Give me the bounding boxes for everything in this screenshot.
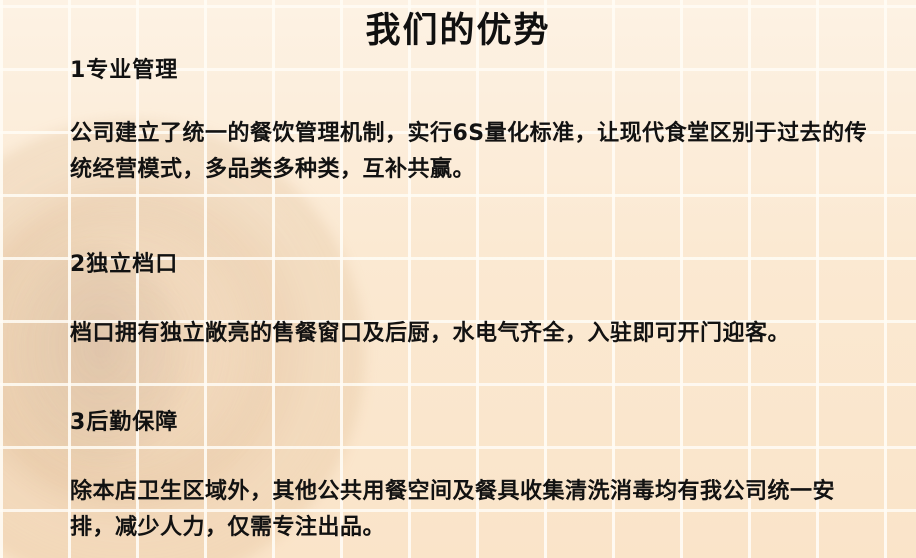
slide-content: 我们的优势 1专业管理 公司建立了统一的餐饮管理机制，实行6S量化标准，让现代食… bbox=[0, 0, 916, 558]
page-title: 我们的优势 bbox=[0, 12, 916, 51]
section-2-heading: 2独立档口 bbox=[70, 252, 880, 278]
section-1-body: 公司建立了统一的餐饮管理机制，实行6S量化标准，让现代食堂区别于过去的传统经营模… bbox=[70, 116, 870, 188]
advantage-section-1: 1专业管理 公司建立了统一的餐饮管理机制，实行6S量化标准，让现代食堂区别于过去… bbox=[70, 58, 880, 188]
presentation-slide: 我们的优势 1专业管理 公司建立了统一的餐饮管理机制，实行6S量化标准，让现代食… bbox=[0, 0, 916, 558]
advantage-section-2: 2独立档口 档口拥有独立敞亮的售餐窗口及后厨，水电气齐全，入驻即可开门迎客。 bbox=[70, 252, 880, 352]
section-3-heading: 3后勤保障 bbox=[70, 410, 880, 436]
section-3-body: 除本店卫生区域外，其他公共用餐空间及餐具收集清洗消毒均有我公司统一安排，减少人力… bbox=[70, 474, 870, 546]
advantage-section-3: 3后勤保障 除本店卫生区域外，其他公共用餐空间及餐具收集清洗消毒均有我公司统一安… bbox=[70, 410, 880, 546]
section-2-body: 档口拥有独立敞亮的售餐窗口及后厨，水电气齐全，入驻即可开门迎客。 bbox=[70, 316, 870, 352]
section-1-heading: 1专业管理 bbox=[70, 58, 880, 84]
